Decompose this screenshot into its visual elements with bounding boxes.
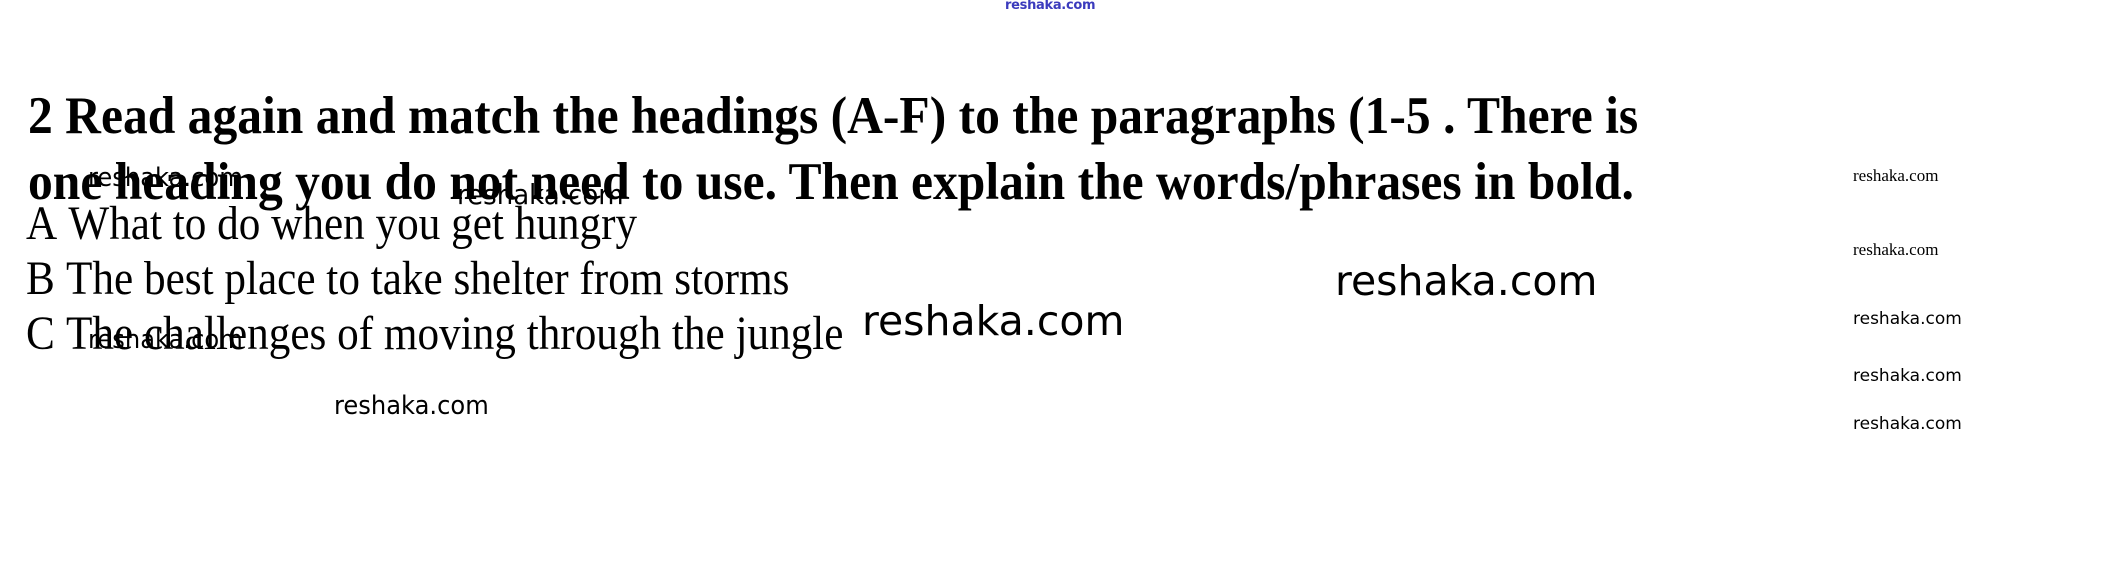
watermark-6: reshaka.com (862, 297, 1124, 345)
watermark-5: reshaka.com (1335, 257, 1597, 305)
watermark-1: reshaka.com (88, 163, 243, 193)
heading-option-b-letter: B (26, 252, 55, 305)
watermark-2: reshaka.com (457, 178, 624, 211)
watermark-7: reshaka.com (1853, 309, 1962, 329)
watermark-10: reshaka.com (334, 391, 489, 421)
watermark-top: reshaka.com (1005, 0, 1095, 13)
watermark-8: reshaka.com (88, 325, 243, 355)
heading-option-c-letter: C (26, 307, 55, 360)
heading-option-b-text: The best place to take shelter from stor… (66, 252, 789, 305)
watermark-11: reshaka.com (1853, 414, 1962, 434)
watermark-3: reshaka.com (1853, 166, 1938, 186)
watermark-4: reshaka.com (1853, 240, 1938, 260)
worksheet-page: reshaka.com 2 Read again and match the h… (0, 0, 2123, 568)
watermark-9: reshaka.com (1853, 366, 1962, 386)
heading-option-b[interactable]: BThe best place to take shelter from sto… (26, 251, 843, 306)
exercise-prompt-line-1: 2 Read again and match the headings (A-F… (28, 83, 1963, 149)
heading-option-a[interactable]: AWhat to do when you get hungry (26, 196, 843, 251)
heading-option-a-letter: A (26, 197, 57, 250)
